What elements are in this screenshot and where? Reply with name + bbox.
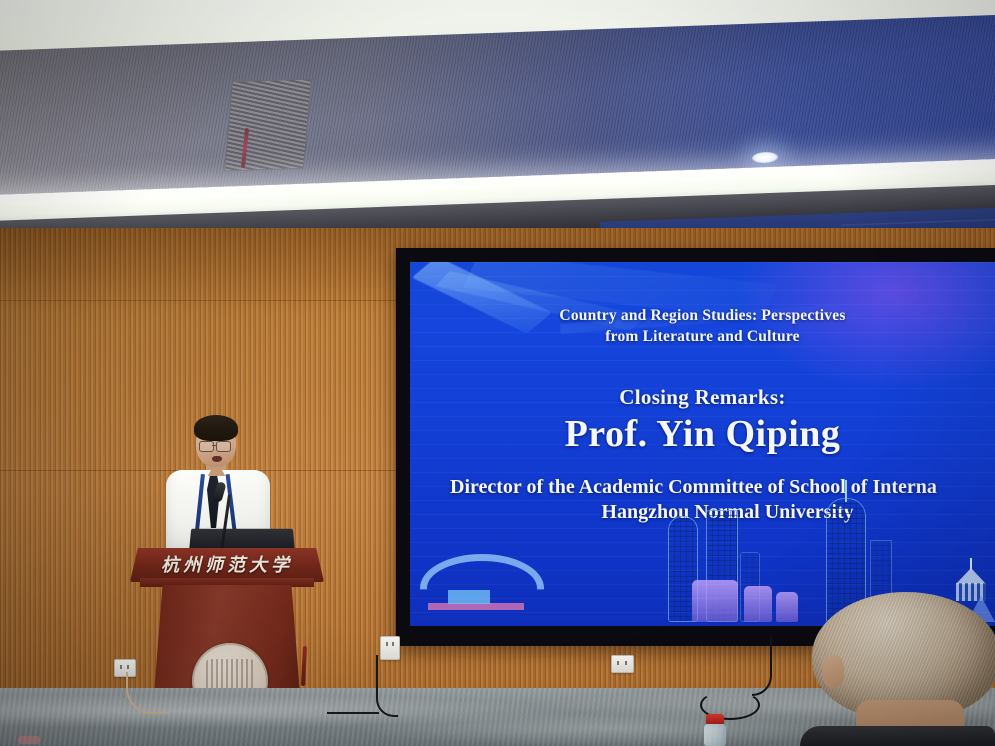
speaker-glasses-right-lens: [216, 441, 231, 452]
projection-screen: Country and Region Studies: Perspectives…: [410, 262, 995, 626]
water-bottle: [704, 714, 726, 746]
conference-title-line-1: Country and Region Studies: Perspectives: [559, 307, 845, 324]
speaker-glasses-left-lens: [199, 441, 214, 452]
speaker-role-line-1: Director of the Academic Committee of Sc…: [450, 476, 937, 498]
skyline-building-purple-2: [744, 586, 772, 622]
speaker-hair: [194, 415, 238, 441]
skyline-building-purple-3: [776, 592, 798, 622]
floor-object: [18, 736, 40, 744]
water-bottle-body: [704, 724, 726, 746]
bridge-arc: [420, 554, 544, 622]
water-bottle-cap: [706, 714, 724, 724]
podium-institution-name: 杭州师范大学: [130, 551, 324, 577]
black-cable-vertical: [376, 655, 398, 717]
conference-title-line-2: from Literature and Culture: [605, 328, 799, 345]
conference-hall-photo: Country and Region Studies: Perspectives…: [0, 0, 995, 746]
black-cable-horizontal: [327, 712, 379, 714]
skyline-bridge: [420, 588, 540, 622]
slide-speaker-name: Prof. Yin Qiping: [410, 412, 995, 456]
outlet-pin-d: [392, 642, 394, 646]
outlet-pin-a: [120, 665, 122, 669]
outlet-pin-b: [127, 665, 129, 669]
bridge-deck: [428, 603, 524, 610]
skyline-building-purple-1: [692, 580, 738, 622]
slide-conference-title: Country and Region Studies: Perspectives…: [410, 306, 995, 348]
audience-member-ear: [822, 655, 844, 689]
outlet-pin-c: [386, 642, 388, 646]
audience-member-shoulder: [800, 726, 995, 746]
bridge-pavilion: [448, 590, 490, 604]
wall-outlet-right: [611, 655, 634, 673]
outlet-pin-f: [625, 661, 627, 665]
ceiling-air-vent: [224, 78, 312, 171]
outlet-pin-e: [617, 661, 619, 665]
pagoda-roof: [956, 568, 986, 584]
speaker-mouth: [212, 456, 222, 462]
slide-section-label: Closing Remarks:: [410, 385, 995, 410]
speaker-glasses-bridge: [212, 445, 216, 446]
